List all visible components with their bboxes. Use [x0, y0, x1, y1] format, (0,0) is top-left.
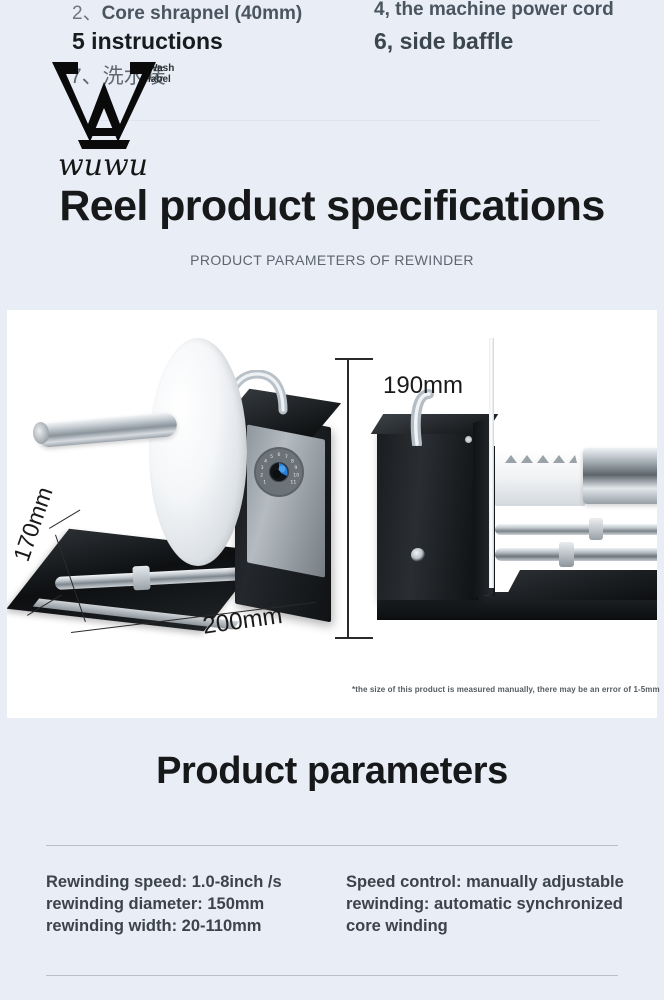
- svg-text:7: 7: [285, 454, 288, 460]
- product-photo-panel: 1234567891011: [7, 310, 657, 718]
- overlay-item-2: 2、Core shrapnel (40mm): [72, 0, 302, 25]
- parameter-column-rewinding: Rewinding speed: 1.0-8inch /s rewinding …: [46, 872, 346, 938]
- page-title: Reel product specifications: [0, 182, 664, 231]
- power-button[interactable]: [411, 548, 425, 562]
- brand-wordmark: wuwu: [58, 148, 148, 183]
- svg-text:8: 8: [291, 458, 294, 464]
- page-subtitle: PRODUCT PARAMETERS OF REWINDER: [0, 252, 664, 268]
- rod-collar: [132, 566, 150, 591]
- side-rod-collar-lower: [559, 542, 574, 567]
- svg-text:9: 9: [294, 465, 297, 471]
- height-dimension-cap-bottom: [335, 637, 373, 639]
- overlay-item-2-number: 2、: [72, 3, 102, 24]
- side-guide-rod-lower: [495, 548, 657, 561]
- height-dimension-cap-top: [335, 358, 373, 360]
- chrome-core-sleeve: [583, 448, 657, 504]
- side-guide-rod-upper: [495, 524, 657, 535]
- overlay-item-6: 6, side baffle: [374, 28, 513, 55]
- svg-text:3: 3: [261, 465, 264, 471]
- parameters-columns: Rewinding speed: 1.0-8inch /s rewinding …: [46, 872, 632, 938]
- side-base-plate-rear: [504, 570, 657, 600]
- svg-text:1: 1: [263, 480, 266, 486]
- height-dimension-line: [347, 358, 349, 638]
- svg-text:6: 6: [278, 452, 281, 458]
- overlay-item-4: 4, the machine power cord: [374, 0, 614, 21]
- dimension-label-height: 190mm: [383, 372, 463, 400]
- measurement-note: *the size of this product is measured ma…: [352, 685, 660, 694]
- svg-text:4: 4: [264, 458, 267, 464]
- reel-flange-disc: [149, 338, 247, 566]
- svg-text:11: 11: [290, 480, 296, 486]
- side-baffle-plate: [489, 338, 494, 588]
- svg-text:10: 10: [293, 473, 299, 479]
- top-divider: [100, 120, 600, 121]
- parameters-divider-top: [46, 845, 618, 846]
- svg-text:2: 2: [260, 473, 263, 479]
- overlay-item-5: 5 instructions: [72, 28, 223, 55]
- svg-text:5: 5: [270, 454, 273, 460]
- overlay-item-2-label: Core shrapnel (40mm): [102, 3, 303, 24]
- parameter-column-speed-control: Speed control: manually adjustable rewin…: [346, 872, 632, 938]
- speed-control-dial[interactable]: 1234567891011: [253, 446, 305, 498]
- housing-screw: [465, 436, 472, 443]
- parameters-section-title: Product parameters: [0, 750, 664, 793]
- core-shrapnel-clips: [503, 452, 579, 464]
- parameters-divider-bottom: [46, 975, 618, 976]
- side-rod-collar-upper: [589, 518, 603, 540]
- wuwu-w-logo: [48, 52, 160, 152]
- side-machine-body: [377, 428, 479, 600]
